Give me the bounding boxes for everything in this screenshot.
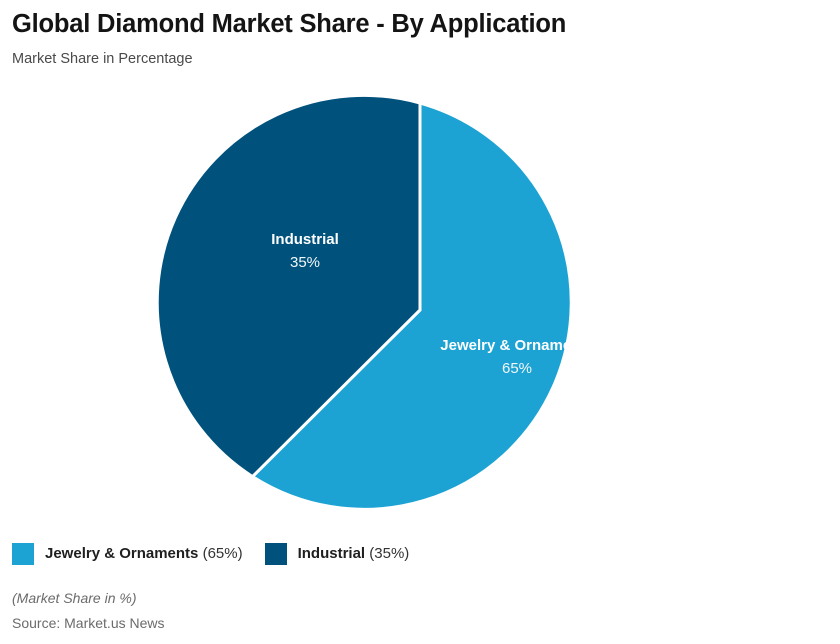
slice-label-industrial-value: 35% bbox=[290, 254, 320, 271]
legend-label-jewelry-ornaments-name: Jewelry & Ornaments bbox=[45, 545, 198, 562]
legend-item-jewelry-ornaments[interactable]: Jewelry & Ornaments (65%) bbox=[12, 543, 243, 565]
chart-footer: (Market Share in %) Source: Market.us Ne… bbox=[12, 588, 828, 633]
legend-swatch-icon-jewelry-ornaments bbox=[12, 543, 34, 565]
footer-note: (Market Share in %) bbox=[12, 588, 828, 608]
slice-label-jewelry-ornaments-name: Jewelry & Ornaments bbox=[440, 337, 593, 354]
legend-label-industrial-percent: (35%) bbox=[369, 545, 409, 562]
legend-label-jewelry-ornaments-percent: (65%) bbox=[203, 545, 243, 562]
footer-source: Source: Market.us News bbox=[12, 613, 828, 633]
legend-swatch-icon-industrial bbox=[265, 543, 287, 565]
legend-label-industrial: Industrial (35%) bbox=[298, 543, 410, 565]
legend-label-jewelry-ornaments: Jewelry & Ornaments (65%) bbox=[45, 543, 243, 565]
legend-label-industrial-name: Industrial bbox=[298, 545, 366, 562]
page-title: Global Diamond Market Share - By Applica… bbox=[12, 8, 828, 40]
pie-chart-card: Global Diamond Market Share - By Applica… bbox=[0, 0, 840, 644]
chart-subtitle: Market Share in Percentage bbox=[12, 49, 828, 69]
chart-legend: Jewelry & Ornaments (65%) Industrial (35… bbox=[12, 541, 431, 567]
chart-plot-area: Jewelry & Ornaments 65% Industrial 35% bbox=[0, 92, 840, 530]
pie-chart-svg: Jewelry & Ornaments 65% Industrial 35% bbox=[0, 92, 840, 530]
slice-label-jewelry-ornaments-value: 65% bbox=[502, 360, 532, 377]
slice-label-industrial-name: Industrial bbox=[271, 231, 339, 248]
chart-header: Global Diamond Market Share - By Applica… bbox=[12, 8, 828, 69]
legend-item-industrial[interactable]: Industrial (35%) bbox=[265, 543, 410, 565]
